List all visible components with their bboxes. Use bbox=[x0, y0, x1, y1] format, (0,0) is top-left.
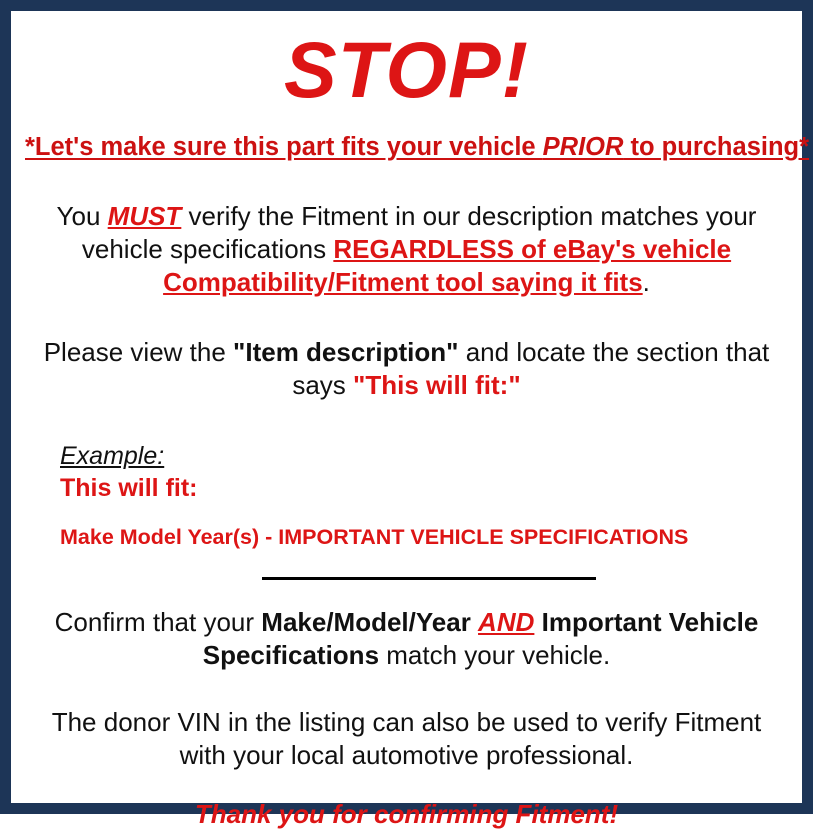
subtitle-banner: *Let's make sure this part fits your veh… bbox=[25, 116, 788, 164]
divider bbox=[25, 551, 788, 580]
example-this-will-fit-heading: This will fit: bbox=[60, 471, 788, 503]
example-section: Example: This will fit: Make Model Year(… bbox=[25, 402, 788, 551]
example-label-row: Example: bbox=[60, 442, 788, 471]
itemdesc-seg1: Please view the bbox=[44, 337, 233, 367]
notice-content-area: STOP! *Let's make sure this part fits yo… bbox=[11, 11, 802, 803]
and-emphasis: AND bbox=[478, 607, 534, 637]
item-description-bold: "Item description" bbox=[233, 337, 458, 367]
example-label: Example: bbox=[60, 442, 164, 471]
fitment-notice-frame: STOP! *Let's make sure this part fits yo… bbox=[0, 0, 813, 814]
make-model-year-bold: Make/Model/Year bbox=[261, 607, 478, 637]
must-emphasis: MUST bbox=[108, 201, 182, 231]
confirm-seg2: match your vehicle. bbox=[379, 640, 610, 670]
subtitle-text-part2: to purchasing* bbox=[623, 133, 809, 161]
item-description-paragraph: Please view the "Item description" and l… bbox=[25, 299, 788, 402]
example-spec-line: Make Model Year(s) - IMPORTANT VEHICLE S… bbox=[60, 503, 788, 551]
verify-fitment-paragraph: You MUST verify the Fitment in our descr… bbox=[25, 164, 788, 299]
subtitle-emphasis-prior: PRIOR bbox=[543, 133, 624, 161]
thank-you-message: Thank you for confirming Fitment! bbox=[25, 772, 788, 831]
subtitle-text-part1: *Let's make sure this part fits your veh… bbox=[25, 133, 543, 161]
confirm-paragraph: Confirm that your Make/Model/Year AND Im… bbox=[25, 580, 788, 672]
must-paragraph-seg3: . bbox=[643, 267, 650, 297]
must-paragraph-seg1: You bbox=[57, 201, 108, 231]
page-title: STOP! bbox=[25, 11, 788, 116]
this-will-fit-quote: "This will fit:" bbox=[353, 370, 521, 400]
horizontal-rule-icon bbox=[262, 577, 596, 580]
confirm-seg1: Confirm that your bbox=[55, 607, 262, 637]
donor-vin-paragraph: The donor VIN in the listing can also be… bbox=[25, 672, 788, 772]
